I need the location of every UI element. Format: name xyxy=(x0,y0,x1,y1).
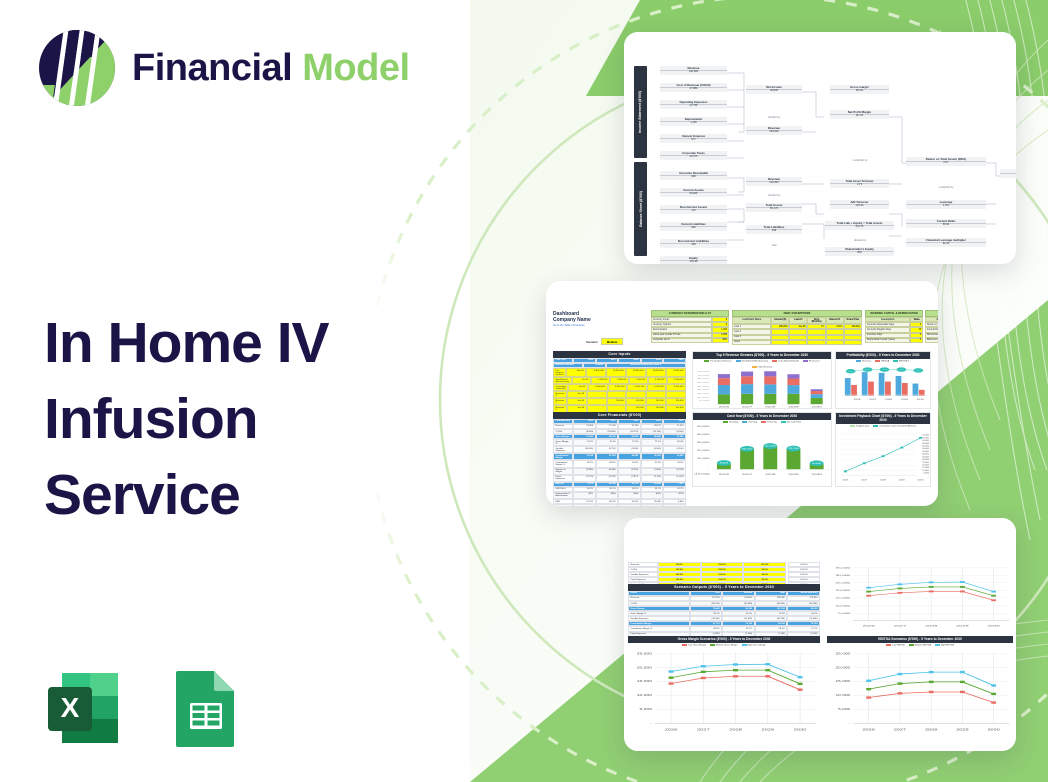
svg-text:25,000: 25,000 xyxy=(836,653,851,656)
svg-text:2027: 2027 xyxy=(742,474,752,476)
svg-text:5,000: 5,000 xyxy=(640,708,654,711)
cell: (580) xyxy=(596,492,619,499)
node-equity: Equity49,128 xyxy=(660,256,727,264)
table-row: Depreciation & Amortisation(211)(580)(64… xyxy=(553,492,686,499)
node-cogs: Cost of Revenue (COGS)47,880 xyxy=(660,83,727,92)
cell: Jan-26 xyxy=(567,391,587,398)
svg-text:50,000: 50,000 xyxy=(697,426,710,428)
table-row: Grant----- xyxy=(732,340,862,345)
cell: 8,850,000 xyxy=(586,368,606,377)
cell: 51,090 xyxy=(596,453,619,460)
column-header: Grace Pmts xyxy=(844,317,862,324)
svg-text:2029: 2029 xyxy=(956,728,969,731)
svg-text:2027: 2027 xyxy=(894,624,907,626)
node-corporate-taxes: Corporate Taxes20,576 xyxy=(660,151,727,160)
cell: Small Bowel Manufacturing xyxy=(553,377,572,384)
svg-text:2027: 2027 xyxy=(861,480,868,481)
plot-svg: -5,00010,00015,00020,00025,00030,00035,0… xyxy=(827,562,1013,632)
svg-text:2030: 2030 xyxy=(794,728,807,731)
svg-text:30.2%: 30.2% xyxy=(847,371,854,372)
cell: 77.1% xyxy=(641,439,664,446)
operator-divided-by-3: divided by xyxy=(829,239,891,242)
scenario-overview-chart[interactable]: -5,00010,00015,00020,00025,00030,00035,0… xyxy=(827,562,1013,632)
node-depreciation: Depreciation1,265 xyxy=(660,117,727,126)
ebitda-title: EBITDA Scenarios ($'000) - 5 Years to De… xyxy=(827,636,1013,643)
cell: (41) xyxy=(596,504,619,506)
svg-text:60,000: 60,000 xyxy=(922,443,929,444)
core-inputs-header: Core Inputs xyxy=(553,351,686,358)
svg-text:40,000: 40,000 xyxy=(697,434,710,436)
cell: (640) xyxy=(618,492,641,499)
core-financials-table: Financial Item20262027202820292030Revenu… xyxy=(553,419,686,506)
cell: - xyxy=(626,391,646,398)
svg-text:2029: 2029 xyxy=(901,399,909,401)
svg-text:45.7%: 45.7% xyxy=(898,370,905,371)
cell: 56.6% xyxy=(618,460,641,467)
cell: 7,100,100 xyxy=(629,377,648,384)
cell: 72.0% xyxy=(618,439,641,446)
svg-text:2030: 2030 xyxy=(918,480,925,481)
cell: 7,900,000 xyxy=(610,377,629,384)
cell: Jan-26 xyxy=(567,398,587,405)
legend-item: Pre-Surgical Services xyxy=(704,360,731,363)
cell: 75.4% xyxy=(596,439,619,446)
ebitda-plot: -5,00010,00015,00020,00025,0002026202720… xyxy=(827,646,1013,738)
svg-text:10,000: 10,000 xyxy=(637,694,653,697)
cell: (8,900) xyxy=(641,446,664,453)
svg-text:10,300: 10,300 xyxy=(918,394,925,395)
plot-svg: 31,30019,00042,00025,00040,60025,00035,1… xyxy=(836,362,930,404)
cell: (5,230) xyxy=(663,468,686,475)
operator-divided-by-1: divided by xyxy=(744,116,804,119)
cell: - xyxy=(789,340,807,345)
cell: (2,337) xyxy=(596,475,619,482)
profitability-title: Profitability ($'000) - 5 Years to Decem… xyxy=(836,352,930,359)
cell: 13,800,000 xyxy=(626,368,646,377)
svg-text:30,000: 30,000 xyxy=(836,574,851,576)
svg-text:-: - xyxy=(708,403,709,405)
svg-text:25,000: 25,000 xyxy=(637,652,653,655)
svg-text:43.2%: 43.2% xyxy=(881,370,888,371)
screenshot-card-stack: Income Statement ($'000) Balance Sheet (… xyxy=(0,0,1048,782)
svg-text:56.1%: 56.1% xyxy=(864,370,871,371)
svg-text:10,000: 10,000 xyxy=(697,396,710,398)
svg-text:2026: 2026 xyxy=(665,728,678,731)
node-non-current-assets: Non-Current Assets170 xyxy=(660,205,727,214)
cell: (1,270) xyxy=(573,475,596,482)
svg-text:2030: 2030 xyxy=(987,728,1000,731)
svg-text:2026: 2026 xyxy=(842,480,849,481)
cell: Gross Margin % xyxy=(553,439,573,446)
cell: 70.1% xyxy=(573,439,596,446)
plot-svg: -5,00010,00015,00020,00025,0002026202720… xyxy=(628,646,820,738)
svg-text:2028: 2028 xyxy=(765,474,775,476)
dupont-sheet: Income Statement ($'000) Balance Sheet (… xyxy=(624,32,1016,264)
cell: Depreciation & Amortisation xyxy=(553,492,573,499)
column-header: Launch xyxy=(789,317,807,324)
cell: 54.5% xyxy=(663,460,686,467)
node-financial-leverage-multiplier: Financial Leverage multiplier62.22 xyxy=(906,238,986,247)
svg-text:-: - xyxy=(849,620,852,622)
node-gross-margin: Gross margin65.0% xyxy=(830,85,889,94)
svg-text:2026: 2026 xyxy=(719,406,730,408)
cell: 13,800,000 xyxy=(606,368,626,377)
svg-text:15,000: 15,000 xyxy=(836,597,851,599)
cell: - xyxy=(826,340,844,345)
svg-text:2030: 2030 xyxy=(811,474,821,476)
svg-text:8,000: 8,000 xyxy=(812,462,821,464)
svg-text:2029: 2029 xyxy=(788,474,798,476)
dupont-analysis-screenshot[interactable]: Income Statement ($'000) Balance Sheet (… xyxy=(624,32,1016,264)
node-revenue-3: Revenue136,800 xyxy=(746,177,802,186)
svg-text:2028: 2028 xyxy=(880,480,887,481)
plot-svg: -5,00010,00015,00020,00025,00030,00035,0… xyxy=(836,427,930,485)
cell: (1,300) xyxy=(663,504,686,506)
metrics-rows: MetricValueReturn on Equity (ROE)61.03In… xyxy=(925,317,938,343)
svg-text:15,000: 15,000 xyxy=(836,681,851,684)
node-net-profit-margin: Net Profit Margin35.7% xyxy=(830,110,889,119)
node-operating-expenses: Operating Expenses17,758 xyxy=(660,100,727,109)
table-row: Interest Expense(38)(41)(44)(5)(1,300) xyxy=(553,504,686,506)
cell: 9,100,100 xyxy=(627,384,647,391)
svg-text:2030: 2030 xyxy=(987,624,1000,626)
svg-text:15,000: 15,000 xyxy=(697,392,710,394)
svg-text:65,000: 65,000 xyxy=(922,441,929,442)
svg-text:2026: 2026 xyxy=(862,728,875,731)
svg-text:30,000: 30,000 xyxy=(697,381,710,383)
cell: 38,580 xyxy=(618,453,641,460)
node-interest-expense: Interest Expense577 xyxy=(660,134,727,143)
svg-text:25,000: 25,000 xyxy=(868,394,875,395)
plot-svg: -5,00010,00015,00020,00025,0002026202720… xyxy=(827,646,1013,738)
dashboard-header: Dashboard Company Name Go to the Table o… xyxy=(553,311,643,327)
svg-text:20,000: 20,000 xyxy=(836,590,851,592)
scenario-label: Scenario xyxy=(586,340,598,344)
node-total-liabilities: Total Liabilities949 xyxy=(746,225,802,234)
svg-text:40,000: 40,000 xyxy=(697,374,710,376)
svg-text:2027: 2027 xyxy=(742,406,753,408)
cell-label: Depreciation Period (Years) xyxy=(865,338,910,343)
svg-text:10,000: 10,000 xyxy=(836,695,851,698)
node-leverage: Leverage1.9% xyxy=(906,200,986,209)
cell: 100,000 xyxy=(646,398,666,405)
table-row: Variable Expenses(10,054)(9,720)(9,500)(… xyxy=(553,446,686,453)
debt-panel-header: DEBT ASSUMPTIONS xyxy=(732,310,862,317)
currency-rows: Currency Inputs$Currency Outputs$Denomin… xyxy=(651,317,729,343)
svg-text:55,000: 55,000 xyxy=(922,446,929,447)
cell: 3,100,000 xyxy=(666,384,686,391)
svg-text:2029: 2029 xyxy=(899,480,906,481)
legend-item: Small Bowel Manufacturing xyxy=(736,360,769,363)
cell-label: Maximum Debt ("000) xyxy=(925,338,938,343)
node-net-income: Net Income48,828 xyxy=(746,85,802,94)
scenario-selector[interactable]: Scenario Medium xyxy=(586,338,623,345)
svg-text:2028: 2028 xyxy=(925,624,938,626)
svg-text:19,000: 19,000 xyxy=(851,394,858,395)
svg-text:2026: 2026 xyxy=(854,399,862,401)
plot-svg: (10,000)-10,00020,00030,00040,00050,0008… xyxy=(693,423,831,481)
svg-text:15,000: 15,000 xyxy=(922,468,929,469)
cell: - xyxy=(587,398,607,405)
cell: (44) xyxy=(618,504,641,506)
cell: (9,440) xyxy=(596,468,619,475)
cell: (851) xyxy=(663,492,686,499)
legend-item: Revenue 4 xyxy=(803,360,820,363)
svg-text:2030: 2030 xyxy=(917,399,925,401)
svg-text:45,000: 45,000 xyxy=(697,370,710,372)
svg-text:20,000: 20,000 xyxy=(697,389,710,391)
svg-text:35,000: 35,000 xyxy=(697,378,710,380)
cash-flow-chart[interactable]: Cash flow ($'000) - 5 Years to December … xyxy=(692,412,832,487)
ebitda-scenarios-chart[interactable]: EBITDA Scenarios ($'000) - 5 Years to De… xyxy=(827,636,1013,746)
cell: 36.1% xyxy=(573,460,596,467)
operator-multiplied-by-1: multiplied by xyxy=(829,159,891,162)
payback-title: Investment Payback Chart ($'000) - 5 Yea… xyxy=(836,413,930,424)
cell: Fixed Expenses xyxy=(553,475,573,482)
node-current-ratio: Current Ratio58.90 xyxy=(906,219,986,228)
payback-chart[interactable]: Investment Payback Chart ($'000) - 5 Yea… xyxy=(835,412,931,487)
cell: Grant xyxy=(732,340,771,345)
cell: Oct-26 xyxy=(572,377,591,384)
profitability-chart[interactable]: Profitability ($'000) - 5 Years to Decem… xyxy=(835,351,931,409)
svg-text:50,000: 50,000 xyxy=(922,449,929,450)
cell: 65.0% xyxy=(663,439,686,446)
cell: 8,600,000 xyxy=(588,384,608,391)
profitability-plot: 31,30019,00042,00025,00040,60025,00035,1… xyxy=(836,362,930,404)
core-financials-header: Core Financials ($'000) xyxy=(553,412,686,419)
working-capital-panel: WORKING CAPITAL & DEPRECIATION Assumptio… xyxy=(865,310,923,343)
svg-text:25,000: 25,000 xyxy=(884,394,891,395)
column-header: Loan/Grant Name xyxy=(732,317,771,324)
svg-text:2027: 2027 xyxy=(869,399,877,401)
wc-rows: AssumptionValueAccounts Receivable Days2… xyxy=(865,317,923,343)
svg-text:2027: 2027 xyxy=(894,728,907,731)
dashboard-sheet: Dashboard Company Name Go to the Table o… xyxy=(546,281,938,506)
table-row: Corporate tax %30% xyxy=(651,338,729,343)
cell: (38) xyxy=(573,504,596,506)
svg-text:25,000: 25,000 xyxy=(836,582,851,584)
legend-item: Consulting Telehealth xyxy=(772,360,799,363)
plot-svg: -5,00010,00015,00020,00025,00030,00035,0… xyxy=(693,369,831,409)
svg-text:5,000: 5,000 xyxy=(838,709,850,712)
cell: 5,350,000 xyxy=(591,377,610,384)
cell: - xyxy=(844,340,862,345)
revenue-streams-title: Top 5 Revenue Streams ($'000) - 5 Years … xyxy=(693,352,831,359)
cell: (5) xyxy=(641,504,664,506)
scenario-value[interactable]: Medium xyxy=(601,338,624,345)
svg-text:35,000: 35,000 xyxy=(836,567,851,569)
svg-text:28,700: 28,700 xyxy=(742,448,753,450)
svg-text:15,000: 15,000 xyxy=(637,680,653,683)
node-non-current-liabilities: Non-Current Liabilities100 xyxy=(660,239,727,248)
cell: Interest Expense xyxy=(553,504,573,506)
working-capital-panel-header: WORKING CAPITAL & DEPRECIATION xyxy=(865,310,923,317)
svg-text:5,000: 5,000 xyxy=(923,473,929,474)
cell: Jan-26 xyxy=(568,384,588,391)
svg-text:70,000: 70,000 xyxy=(922,438,929,439)
svg-text:20,000: 20,000 xyxy=(697,449,710,451)
node-return-on-equity: Return on Equity (ROE)61.03 xyxy=(1000,169,1016,178)
cell: 9,900,000 xyxy=(608,384,628,391)
svg-text:2028: 2028 xyxy=(765,406,776,408)
table-row: Revenue 4Jan-26----- xyxy=(553,391,686,398)
svg-text:30,000: 30,000 xyxy=(922,459,929,460)
cell: 100,000 xyxy=(607,398,627,405)
svg-text:25,000: 25,000 xyxy=(922,462,929,463)
table-row: Fixed Expenses(1,270)(2,337)(2,871)(2,11… xyxy=(553,475,686,482)
gross-margin-title: Gross Margin Scenarios ($'000) - 5 Years… xyxy=(628,636,820,643)
scenario-overview-plot: -5,00010,00015,00020,00025,00030,00035,0… xyxy=(827,562,1013,632)
table-row: Contribution Margin11,52851,09038,58036,… xyxy=(553,453,686,460)
cell: Contribution Margin xyxy=(553,453,573,460)
key-metrics-panel: KEY METRICS MetricValueReturn on Equity … xyxy=(925,310,938,343)
svg-text:32,700: 32,700 xyxy=(765,445,776,447)
revenue-streams-chart[interactable]: Top 5 Revenue Streams ($'000) - 5 Years … xyxy=(692,351,832,409)
svg-text:-: - xyxy=(849,722,852,725)
table-row: Consulting TelehealthJan-268,600,0009,90… xyxy=(553,384,686,391)
table-row: Small Bowel ManufacturingOct-265,350,000… xyxy=(553,377,686,384)
column-header: Interest % xyxy=(826,317,844,324)
gross-margin-plot: -5,00010,00015,00020,00025,0002026202720… xyxy=(628,646,820,738)
cell: (2,110) xyxy=(641,475,664,482)
svg-text:2028: 2028 xyxy=(885,399,893,401)
cell: 100,500 xyxy=(626,398,646,405)
operator-multiplied-by-2: multiplied by xyxy=(914,186,978,189)
cell: (805) xyxy=(641,492,664,499)
svg-text:10,000: 10,000 xyxy=(922,470,929,471)
cell-value: 5 xyxy=(910,338,923,343)
cell: 8,600,000 xyxy=(666,368,686,377)
svg-text:75,000: 75,000 xyxy=(922,435,929,436)
revenue-streams-legend: Pre-Surgical ServicesSmall Bowel Manufac… xyxy=(693,359,831,369)
cell: 13,800,000 xyxy=(646,368,666,377)
cell: 57.8% xyxy=(641,460,664,467)
revenue-streams-plot: -5,00010,00015,00020,00025,00030,00035,0… xyxy=(693,369,831,409)
svg-text:20,000: 20,000 xyxy=(836,667,851,670)
column-header: Amount ($) xyxy=(771,317,789,324)
cell: Contribution Margin % xyxy=(553,460,573,467)
cell: (2,985) xyxy=(573,468,596,475)
svg-text:2029: 2029 xyxy=(956,624,969,626)
svg-text:2027: 2027 xyxy=(697,728,710,731)
debt-panel: DEBT ASSUMPTIONS Loan/Grant NameAmount (… xyxy=(732,310,862,345)
svg-text:22,500: 22,500 xyxy=(901,394,908,395)
cell: - xyxy=(771,340,789,345)
dashboard-toc-link[interactable]: Go to the Table of Contents xyxy=(553,324,643,327)
operator-add: Add xyxy=(744,244,804,247)
svg-text:2029: 2029 xyxy=(761,728,774,731)
cell: (2,871) xyxy=(618,475,641,482)
svg-text:5,000: 5,000 xyxy=(838,612,850,614)
debt-rows: Loan/Grant NameAmount ($)LaunchTerm (Mon… xyxy=(732,317,862,345)
svg-text:2026: 2026 xyxy=(862,624,875,626)
table-row: Pre-Surgical ServicesMar-268,850,00013,8… xyxy=(553,368,686,377)
column-header: Term (Months) xyxy=(807,317,825,324)
cell: 5,700,000 xyxy=(648,377,667,384)
node-revenue: Revenue136,800 xyxy=(660,66,727,75)
svg-text:5,000: 5,000 xyxy=(699,400,710,402)
dashboard-company-name: Company Name xyxy=(553,317,643,323)
payback-plot: -5,00010,00015,00020,00025,00030,00035,0… xyxy=(836,427,930,485)
svg-text:20,000: 20,000 xyxy=(637,666,653,669)
cell: (9,210) xyxy=(618,468,641,475)
cash-flow-plot: (10,000)-10,00020,00030,00040,00050,0008… xyxy=(693,423,831,481)
cell: Consulting Telehealth xyxy=(553,384,568,391)
cell: Salaries & Wages xyxy=(553,468,573,475)
cell: 100,000 xyxy=(666,398,686,405)
node-revenue-2: Revenue136,800 xyxy=(746,126,802,135)
svg-text:-: - xyxy=(650,722,653,725)
table-row: Depreciation Period (Years)5 xyxy=(865,338,923,343)
cell: (9,720) xyxy=(596,446,619,453)
table-row: Contribution Margin %36.1%68.6%56.6%57.8… xyxy=(553,460,686,467)
svg-text:-: - xyxy=(928,476,929,477)
cell: 6,100,000 xyxy=(647,384,667,391)
node-accounts-receivable: Accounts Receivable948 xyxy=(660,171,727,180)
cell: Mar-26 xyxy=(566,368,586,377)
cell: - xyxy=(646,391,666,398)
key-metrics-panel-header: KEY METRICS xyxy=(925,310,938,317)
cell: (1,520) xyxy=(663,475,686,482)
svg-text:8,464: 8,464 xyxy=(720,462,729,464)
cell: 11,528 xyxy=(573,453,596,460)
node-ar-turnover: A/R Turnover144.24 xyxy=(830,200,889,209)
cell: - xyxy=(607,391,627,398)
node-total-liab-equity: Total Liab + Equity = Total Assets50,176 xyxy=(825,221,894,230)
svg-text:25,000: 25,000 xyxy=(697,385,710,387)
svg-text:-: - xyxy=(708,465,709,467)
table-row: Gross Margin %70.1%75.4%72.0%77.1%65.0% xyxy=(553,439,686,446)
cell: - xyxy=(807,340,825,345)
svg-text:30,000: 30,000 xyxy=(697,441,710,443)
cell: Pre-Surgical Services xyxy=(553,368,566,377)
cell: 10,950 xyxy=(663,453,686,460)
cell: 68.6% xyxy=(596,460,619,467)
node-total-asset-turnover: Total Asset Turnover2.73 xyxy=(830,179,889,188)
gross-margin-scenarios-chart[interactable]: Gross Margin Scenarios ($'000) - 5 Years… xyxy=(628,636,820,746)
cell: (7,800) xyxy=(641,468,664,475)
svg-text:42.7%: 42.7% xyxy=(915,370,922,371)
svg-text:45,000: 45,000 xyxy=(922,451,929,452)
scenario-outputs-header: Scenario Outputs ($'000) - 5 Years to De… xyxy=(628,584,820,591)
table-row: Salaries & Wages(2,985)(9,440)(9,210)(7,… xyxy=(553,468,686,475)
svg-text:35,000: 35,000 xyxy=(922,457,929,458)
svg-text:10,000: 10,000 xyxy=(697,457,710,459)
svg-text:10,000: 10,000 xyxy=(836,605,851,607)
cash-flow-title: Cash flow ($'000) - 5 Years to December … xyxy=(693,413,831,420)
node-return-on-total-assets: Return on Total Assets (ROA)0.97 xyxy=(906,157,986,166)
currency-panel-header: CURRENCY DENOMINATION & FX xyxy=(651,310,729,317)
scenario-screenshot[interactable]: Revenue80.0%100.0%120.0%COGS105.0%100.0%… xyxy=(624,518,1016,751)
cell: - xyxy=(666,391,686,398)
node-total-assets: Total Assets50,176 xyxy=(746,203,802,212)
svg-text:2030: 2030 xyxy=(811,406,822,408)
svg-text:29,100: 29,100 xyxy=(788,448,799,450)
svg-text:2026: 2026 xyxy=(719,474,729,476)
svg-text:2029: 2029 xyxy=(788,406,799,408)
operator-divided-by-2: divided by xyxy=(744,194,804,197)
node-current-liabilities: Current Liabilities849 xyxy=(660,222,727,231)
node-shareholders-equity: Shareholder's Equity800 xyxy=(825,247,894,256)
node-current-assets: Current Assets50,006 xyxy=(660,188,727,197)
cell: (211) xyxy=(573,492,596,499)
cell: - xyxy=(587,391,607,398)
cell: (4,100) xyxy=(663,446,686,453)
cell-value: 30% xyxy=(712,338,729,343)
cell: Variable Expenses xyxy=(553,446,573,453)
dashboard-screenshot[interactable]: Dashboard Company Name Go to the Table o… xyxy=(546,281,938,506)
dupont-tree: Income Statement ($'000) Balance Sheet (… xyxy=(634,64,1010,246)
